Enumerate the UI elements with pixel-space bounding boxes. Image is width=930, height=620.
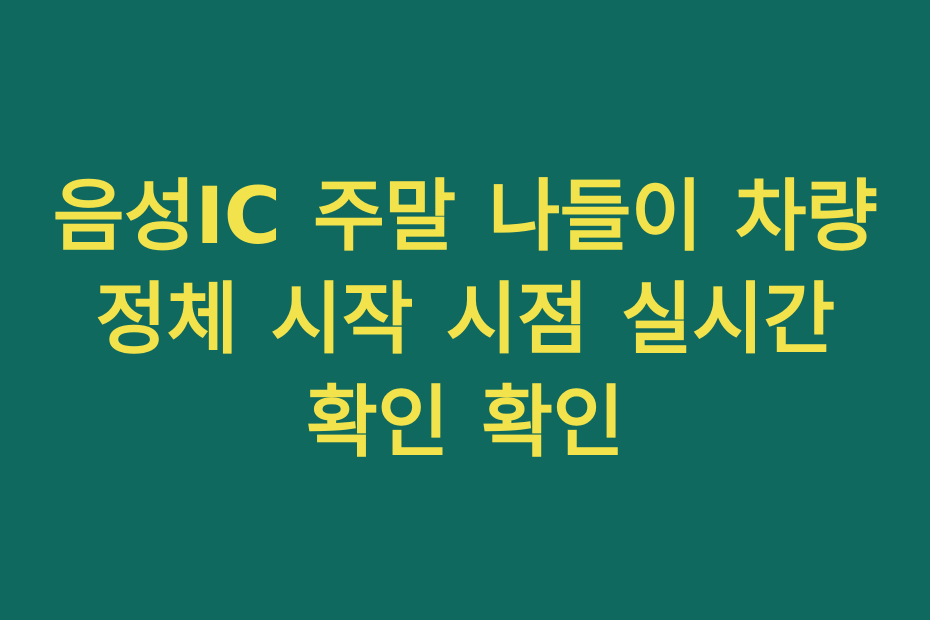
headline-line-2: 정체 시작 시점 실시간: [18, 269, 912, 372]
title-card: 음성IC 주말 나들이 차량 정체 시작 시점 실시간 확인 확인: [0, 0, 930, 620]
headline-line-3: 확인 확인: [18, 372, 912, 475]
headline-text: 음성IC 주말 나들이 차량 정체 시작 시점 실시간 확인 확인: [0, 166, 930, 475]
headline-line-1: 음성IC 주말 나들이 차량: [18, 166, 912, 269]
